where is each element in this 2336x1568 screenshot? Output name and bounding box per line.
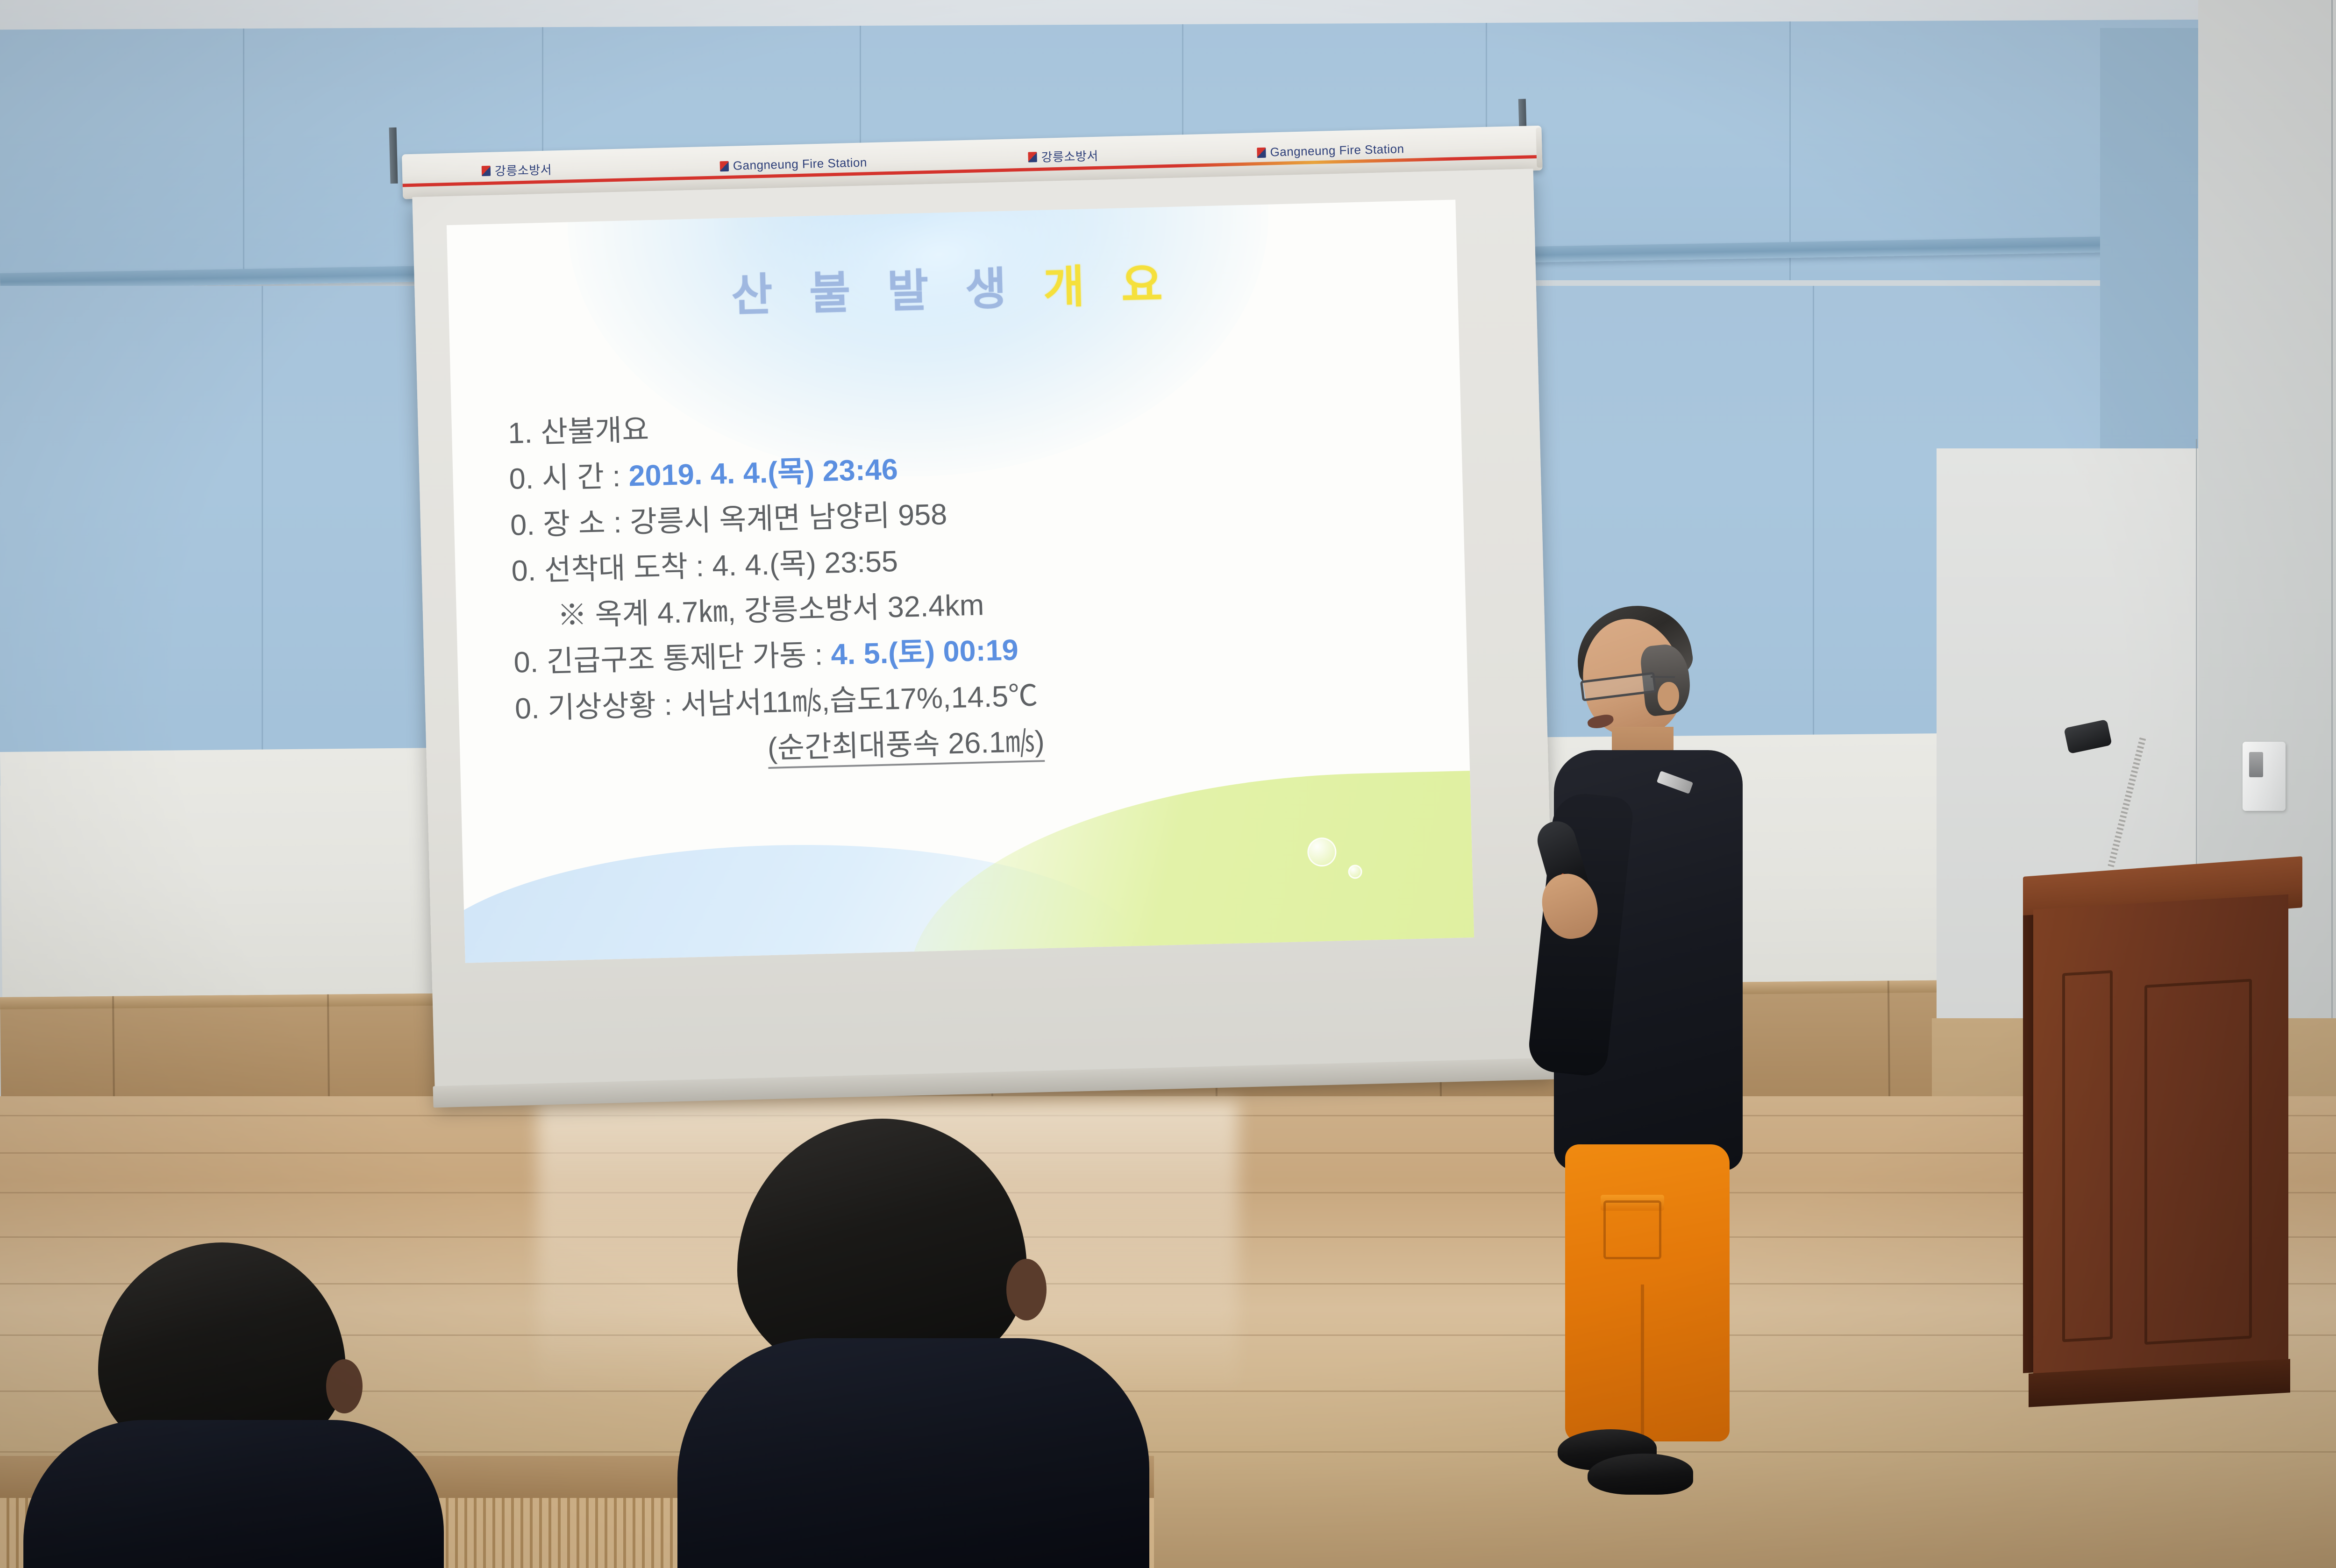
- audience-member-left: [65, 1242, 411, 1568]
- gooseneck-microphone[interactable]: [2062, 732, 2156, 872]
- fire-station-logo-icon: [1028, 152, 1037, 162]
- photo-scene: 강릉소방서 Gangneung Fire Station 강릉소방서 Gangn…: [0, 0, 2336, 1568]
- roller-end-cap: [1536, 127, 1542, 168]
- trouser-leg-seam: [1641, 1284, 1644, 1443]
- slide-line-control-hq-value: 4. 5.(토) 00:19: [831, 634, 1019, 671]
- slide-wave-green: [905, 770, 1474, 963]
- slide-title-accent: 개 요: [1043, 260, 1175, 313]
- podium-panel-inset-left: [2062, 970, 2113, 1342]
- roller-brand-label-en: Gangneung Fire Station: [719, 155, 867, 173]
- slide-line-control-hq-label: 0. 긴급구조 통제단 가동 :: [513, 639, 832, 679]
- presentation-slide: 산 불 발 생 개 요 1. 산불개요 0. 시 간 : 2019. 4. 4.…: [447, 199, 1474, 963]
- slide-line-time-value: 2019. 4. 4.(목) 23:46: [628, 453, 898, 493]
- wooden-podium[interactable]: [2023, 866, 2303, 1404]
- roller-brand-text-ko-2: 강릉소방서: [1041, 147, 1098, 165]
- slide-line-max-gust-text: (순간최대풍속 26.1㎧): [767, 725, 1045, 769]
- fire-station-logo-icon: [720, 161, 729, 171]
- slide-body: 1. 산불개요 0. 시 간 : 2019. 4. 4.(목) 23:46 0.…: [507, 387, 1432, 777]
- roller-brand-label-ko: 강릉소방서: [481, 160, 552, 179]
- audience-member-center: [696, 1119, 1117, 1568]
- screen-surface: 산 불 발 생 개 요 1. 산불개요 0. 시 간 : 2019. 4. 4.…: [412, 169, 1556, 1103]
- screen-bottom-weight-bar: [433, 1057, 1559, 1107]
- wall-corner-edge-2: [2331, 0, 2333, 1051]
- audience-ear: [326, 1359, 363, 1413]
- slide-line-time-label: 0. 시 간 :: [509, 460, 629, 496]
- presenter-trousers: [1565, 1144, 1730, 1441]
- roller-brand-label-ko-2: 강릉소방서: [1028, 147, 1098, 166]
- podium-panel-inset-right: [2144, 979, 2252, 1345]
- audience-shoulders: [23, 1420, 444, 1568]
- podium-front-face: [2033, 894, 2288, 1382]
- screen-mount-bracket-left: [389, 128, 398, 184]
- fire-station-logo-icon: [482, 165, 491, 176]
- roller-brand-text-ko: 강릉소방서: [494, 160, 552, 179]
- audience-shoulders: [677, 1338, 1149, 1568]
- projection-screen[interactable]: 강릉소방서 Gangneung Fire Station 강릉소방서 Gangn…: [411, 126, 1566, 1135]
- gooseneck-stem: [2107, 735, 2146, 869]
- slide-title-primary: 산 불 발 생: [731, 263, 1019, 321]
- trouser-cargo-pocket: [1603, 1200, 1661, 1259]
- wall-switch-panel[interactable]: [2243, 742, 2286, 811]
- audience-ear: [1006, 1259, 1047, 1320]
- roller-brand-text-en: Gangneung Fire Station: [733, 155, 867, 173]
- wall-switch-indicator-icon: [2249, 752, 2263, 777]
- fire-station-logo-icon: [1257, 147, 1266, 157]
- roller-brand-label-en-2: Gangneung Fire Station: [1257, 142, 1404, 160]
- presenter-firefighter: [1532, 593, 1794, 1495]
- roller-brand-text-en-2: Gangneung Fire Station: [1270, 142, 1404, 159]
